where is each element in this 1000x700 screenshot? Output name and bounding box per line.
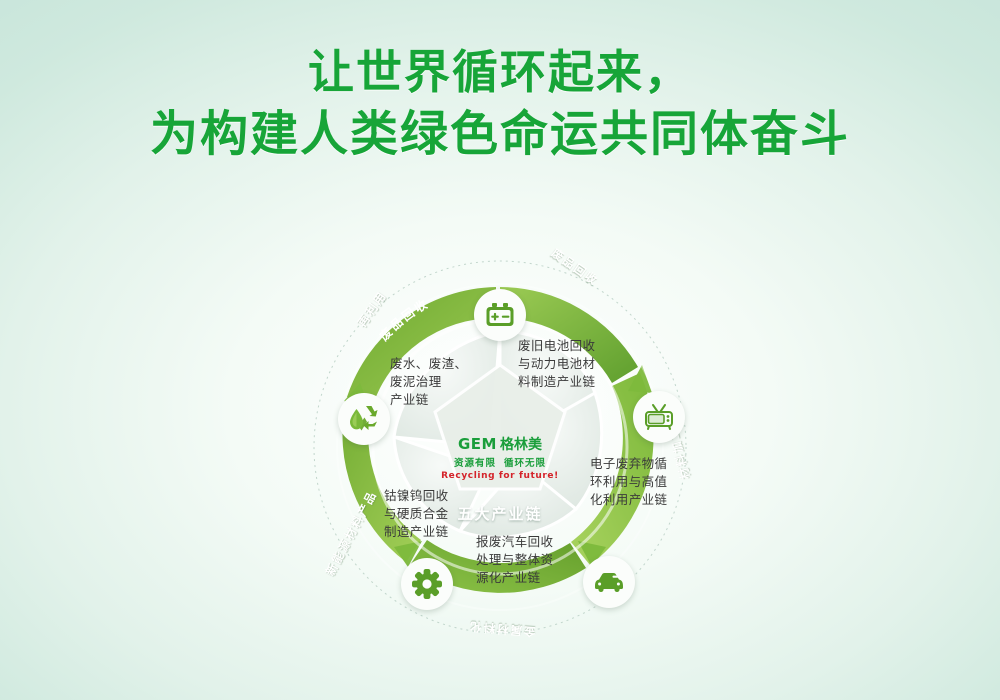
- chain-ewaste-line-2: 环利用与高值: [590, 473, 667, 491]
- chain-www-line-2: 废泥治理: [390, 373, 467, 391]
- television-icon-bubble[interactable]: [633, 391, 685, 443]
- logo-slogan-en: Recycling for future!: [440, 471, 560, 481]
- water-recycle-icon: [348, 404, 380, 434]
- logo-brand-row: GEM 格林美: [440, 437, 560, 452]
- logo-brand-en: GEM: [458, 437, 497, 452]
- car-icon: [593, 571, 625, 593]
- chain-cnw-line-1: 钴镍钨回收: [384, 487, 449, 505]
- chain-ewaste-line-1: 电子废弃物循: [590, 455, 667, 473]
- logo-brand-cn: 格林美: [500, 438, 542, 452]
- gear-icon: [412, 569, 442, 599]
- television-icon: [644, 403, 674, 431]
- chain-battery-line-2: 与动力电池材: [518, 355, 595, 373]
- logo-slogan-cn-left: 资源有限: [454, 458, 496, 469]
- chain-www-line-3: 产业链: [390, 391, 467, 409]
- chain-vehicle-line-1: 报废汽车回收: [476, 533, 553, 551]
- chain-vehicle-line-2: 处理与整体资: [476, 551, 553, 569]
- chain-text-battery: 废旧电池回收 与动力电池材 料制造产业链: [518, 337, 595, 391]
- page-title-line-2: 为构建人类绿色命运共同体奋斗: [0, 103, 1000, 166]
- chain-text-e-waste: 电子废弃物循 环利用与高值 化利用产业链: [590, 455, 667, 509]
- chain-battery-line-1: 废旧电池回收: [518, 337, 595, 355]
- battery-icon-bubble[interactable]: [474, 289, 526, 341]
- chain-cnw-line-2: 与硬质合金: [384, 505, 449, 523]
- gem-logo: GEM 格林美 资源有限循环无限 Recycling for future! 五…: [440, 437, 560, 524]
- page-title: 让世界循环起来， 为构建人类绿色命运共同体奋斗: [0, 42, 1000, 166]
- chain-vehicle-line-3: 源化产业链: [476, 569, 553, 587]
- chain-battery-line-3: 料制造产业链: [518, 373, 595, 391]
- logo-slogan-cn: 资源有限循环无限: [440, 455, 560, 469]
- chain-ewaste-line-3: 化利用产业链: [590, 491, 667, 509]
- chain-cnw-line-3: 制造产业链: [384, 523, 449, 541]
- water-recycle-icon-bubble[interactable]: [338, 393, 390, 445]
- recycling-cycle-diagram: 废品回收 废品回收 再利用 材料加工 金属材料化 新能源材料产品: [290, 215, 710, 680]
- gear-icon-bubble[interactable]: [401, 558, 453, 610]
- car-icon-bubble[interactable]: [583, 556, 635, 608]
- chain-text-cobalt-nickel-tungsten: 钴镍钨回收 与硬质合金 制造产业链: [384, 487, 449, 541]
- chain-text-waste-water-slag-sludge: 废水、废渣、 废泥治理 产业链: [390, 355, 467, 409]
- battery-icon: [485, 302, 515, 328]
- chain-www-line-1: 废水、废渣、: [390, 355, 467, 373]
- logo-slogan-cn-right: 循环无限: [504, 458, 546, 469]
- center-label-five-chains: 五大产业链: [440, 503, 560, 524]
- chain-text-end-of-life-vehicle: 报废汽车回收 处理与整体资 源化产业链: [476, 533, 553, 587]
- page-title-line-1: 让世界循环起来，: [0, 42, 1000, 103]
